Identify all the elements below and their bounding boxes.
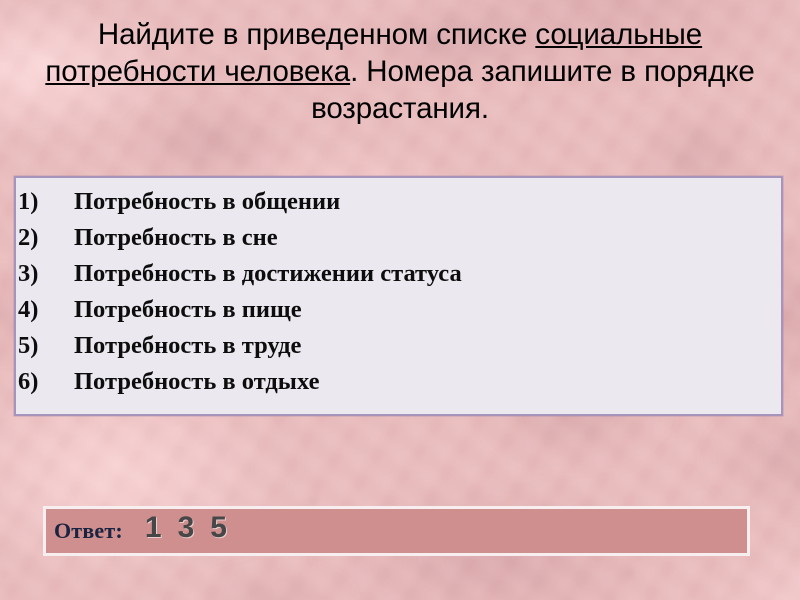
list-item-label: Потребность в пище bbox=[74, 296, 781, 324]
answer-label: Ответ: bbox=[54, 518, 123, 544]
list-item-label: Потребность в общении bbox=[74, 188, 781, 216]
list-item[interactable]: 5) Потребность в труде bbox=[8, 332, 781, 368]
list-item-label: Потребность в труде bbox=[74, 332, 781, 360]
list-item-marker: 2) bbox=[8, 224, 74, 252]
list-item[interactable]: 4) Потребность в пище bbox=[8, 296, 781, 332]
list-item-marker: 4) bbox=[8, 296, 74, 324]
list-item-marker: 5) bbox=[8, 332, 74, 360]
title-part-underlined-2: потребности человека bbox=[45, 55, 350, 88]
answer-value: 135 bbox=[145, 511, 243, 545]
list-item-marker: 6) bbox=[8, 368, 74, 396]
list-item-label: Потребность в достижении статуса bbox=[74, 260, 781, 288]
list-item-marker: 3) bbox=[8, 260, 74, 288]
options-list: 1) Потребность в общении 2) Потребность … bbox=[8, 188, 781, 404]
title-part-suffix: . Номера запишите в bbox=[350, 55, 636, 88]
list-item-label: Потребность в отдыхе bbox=[74, 368, 781, 396]
slide-canvas: Найдите в приведенном списке социальные … bbox=[0, 0, 800, 600]
list-item[interactable]: 3) Потребность в достижении статуса bbox=[8, 260, 781, 296]
list-item-marker: 1) bbox=[8, 188, 74, 216]
list-item[interactable]: 2) Потребность в сне bbox=[8, 224, 781, 260]
question-title: Найдите в приведенном списке социальные … bbox=[24, 16, 776, 127]
title-part-prefix: Найдите в приведенном списке bbox=[98, 18, 535, 51]
options-box: 1) Потребность в общении 2) Потребность … bbox=[14, 176, 783, 416]
list-item-label: Потребность в сне bbox=[74, 224, 781, 252]
answer-bar: Ответ: 135 bbox=[43, 506, 750, 556]
list-item[interactable]: 1) Потребность в общении bbox=[8, 188, 781, 224]
title-part-underlined-1: социальные bbox=[535, 18, 702, 51]
list-item[interactable]: 6) Потребность в отдыхе bbox=[8, 368, 781, 404]
